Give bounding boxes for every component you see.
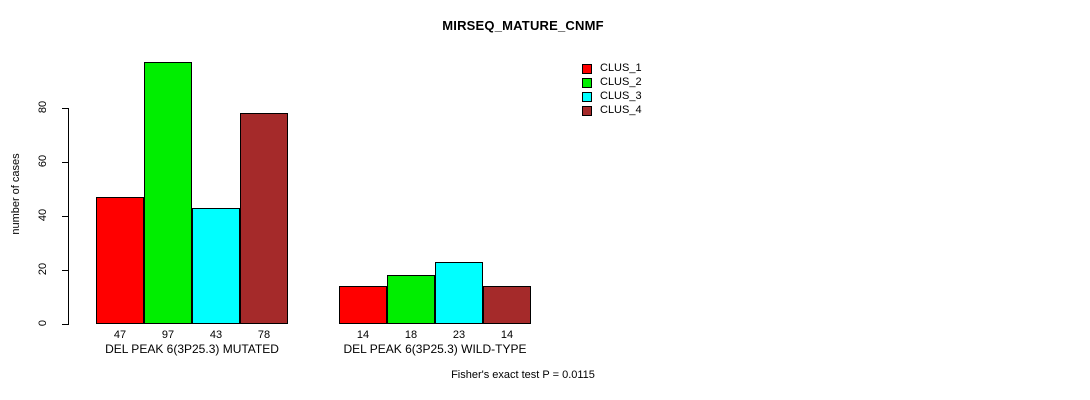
bar-clus-4-group2: [483, 286, 531, 324]
y-axis-tick: [62, 216, 68, 217]
bar-clus-2-group2: [387, 275, 435, 324]
legend-label: CLUS_1: [600, 62, 642, 75]
bar-count-label: 14: [339, 329, 387, 341]
legend-label: CLUS_4: [600, 104, 642, 117]
bar-count-label: 78: [240, 329, 288, 341]
y-axis-tick-label: 40: [37, 200, 49, 230]
legend-swatch-icon: [582, 106, 592, 116]
bar-clus-4-group1: [240, 113, 288, 324]
bar-clus-1-group2: [339, 286, 387, 324]
y-axis-tick-label: 80: [37, 92, 49, 122]
y-axis-tick: [62, 108, 68, 109]
group-axis-label: DEL PEAK 6(3P25.3) WILD-TYPE: [279, 342, 591, 356]
y-axis-tick: [62, 270, 68, 271]
bar-clus-3-group1: [192, 208, 240, 324]
legend-swatch-icon: [582, 64, 592, 74]
bar-count-label: 14: [483, 329, 531, 341]
y-axis-label: number of cases: [10, 134, 22, 254]
y-axis-tick-label: 0: [37, 308, 49, 338]
y-axis-tick-label: 60: [37, 146, 49, 176]
legend-label: CLUS_3: [600, 90, 642, 103]
fisher-test-annotation: Fisher's exact test P = 0.0115: [0, 369, 1068, 381]
legend-swatch-icon: [582, 78, 592, 88]
bar-clus-2-group1: [144, 62, 192, 324]
legend-swatch-icon: [582, 92, 592, 102]
barplot-figure: MIRSEQ_MATURE_CNMF number of cases 02040…: [0, 0, 1090, 400]
y-axis-tick: [62, 324, 68, 325]
y-axis-tick: [62, 162, 68, 163]
y-axis-line: [68, 108, 69, 325]
bar-count-label: 47: [96, 329, 144, 341]
chart-title: MIRSEQ_MATURE_CNMF: [0, 18, 1068, 33]
bar-count-label: 23: [435, 329, 483, 341]
bar-count-label: 97: [144, 329, 192, 341]
bar-count-label: 43: [192, 329, 240, 341]
bar-count-label: 18: [387, 329, 435, 341]
legend-label: CLUS_2: [600, 76, 642, 89]
y-axis-tick-label: 20: [37, 254, 49, 284]
bar-clus-3-group2: [435, 262, 483, 324]
bar-clus-1-group1: [96, 197, 144, 324]
